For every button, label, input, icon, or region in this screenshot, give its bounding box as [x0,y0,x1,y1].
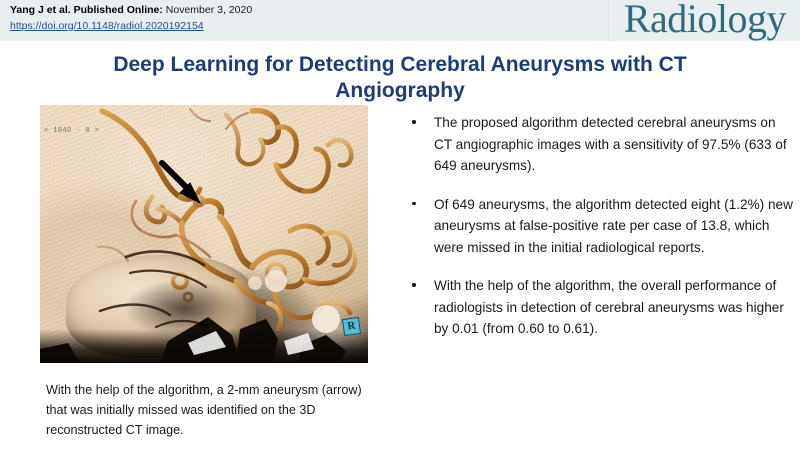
ct-orientation-marker-right: R [342,317,361,336]
bullet-dot-icon [412,283,416,287]
header-divider [608,0,609,41]
ct-window-level-label: < 1040 - 0 > [44,127,99,135]
figure-caption: With the help of the algorithm, a 2-mm a… [46,380,366,440]
radiology-logo: Radiology [624,0,786,42]
list-item-text: The proposed algorithm detected cerebral… [434,115,787,173]
list-item-text: Of 649 aneurysms, the algorithm detected… [434,197,793,255]
citation-line: Yang J et al. Published Online: November… [10,3,252,18]
list-item: Of 649 aneurysms, the algorithm detected… [405,194,793,259]
ct-angiography-image: < 1040 - 0 > R [40,105,368,363]
header-band: Yang J et al. Published Online: November… [0,0,800,41]
key-findings-list: The proposed algorithm detected cerebral… [405,112,793,340]
annotation-arrow-icon [40,105,368,363]
bullet-dot-icon [412,202,416,206]
bullet-dot-icon [412,120,416,124]
page-title: Deep Learning for Detecting Cerebral Ane… [60,52,740,104]
figure-panel: < 1040 - 0 > R [40,105,368,363]
doi-link[interactable]: https://doi.org/10.1148/radiol.202019215… [10,19,204,34]
citation-authors: Yang J et al. Published Online: [10,4,163,16]
list-item-text: With the help of the algorithm, the over… [434,278,784,336]
list-item: With the help of the algorithm, the over… [405,275,793,340]
citation-publication-date: November 3, 2020 [163,4,252,16]
list-item: The proposed algorithm detected cerebral… [405,112,793,177]
